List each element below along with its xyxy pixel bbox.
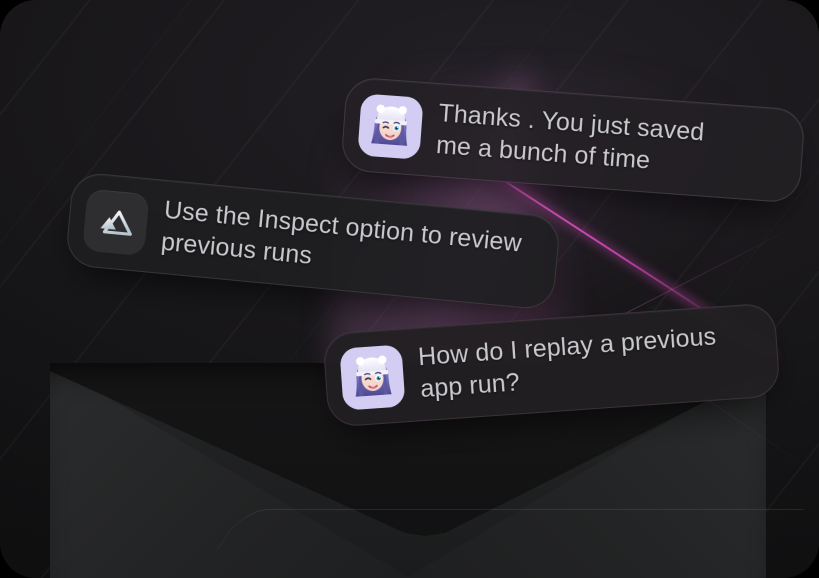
message-text: Use the Inspect option to review previou… — [160, 195, 523, 292]
mountain-logo-icon — [82, 188, 150, 256]
scene-canvas: Thanks . You just saved me a bunch of ti… — [0, 0, 819, 578]
message-text: Thanks . You just saved me a bunch of ti… — [435, 98, 705, 181]
memoji-avatar-icon — [339, 344, 405, 410]
memoji-avatar-icon — [357, 93, 423, 159]
message-text: How do I replay a previous app run? — [417, 321, 719, 405]
